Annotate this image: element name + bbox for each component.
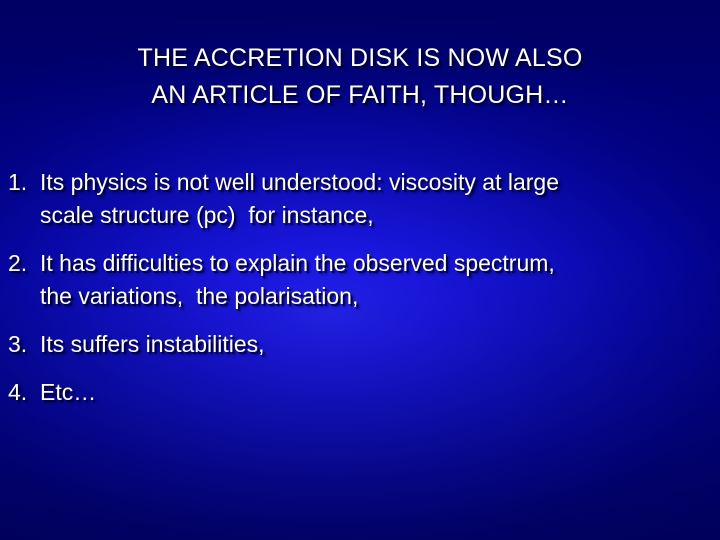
slide-title: THE ACCRETION DISK IS NOW ALSO AN ARTICL… bbox=[0, 40, 720, 114]
list-item-number: 3. bbox=[8, 328, 40, 361]
list-item-line: the variations, the polarisation, bbox=[40, 280, 714, 313]
list-item-number: 1. bbox=[8, 166, 40, 199]
list-item: 4. Etc… bbox=[8, 376, 714, 409]
list-item-line: scale structure (pc) for instance, bbox=[40, 199, 714, 232]
list-item: 2. It has difficulties to explain the ob… bbox=[8, 247, 714, 313]
title-line-1: THE ACCRETION DISK IS NOW ALSO bbox=[0, 40, 720, 77]
list-item-text: It has difficulties to explain the obser… bbox=[40, 247, 714, 313]
list-item-line: Its physics is not well understood: visc… bbox=[40, 166, 714, 199]
list-item-number: 4. bbox=[8, 376, 40, 409]
list-item-number: 2. bbox=[8, 247, 40, 280]
list-item: 3. Its suffers instabilities, bbox=[8, 328, 714, 361]
list-item-text: Etc… bbox=[40, 376, 714, 409]
title-line-2: AN ARTICLE OF FAITH, THOUGH… bbox=[0, 77, 720, 114]
presentation-slide: THE ACCRETION DISK IS NOW ALSO AN ARTICL… bbox=[0, 0, 720, 540]
list-item-line: Etc… bbox=[40, 376, 714, 409]
list-item-line: It has difficulties to explain the obser… bbox=[40, 247, 714, 280]
list-item-text: Its suffers instabilities, bbox=[40, 328, 714, 361]
slide-content: THE ACCRETION DISK IS NOW ALSO AN ARTICL… bbox=[0, 0, 720, 540]
list-item-text: Its physics is not well understood: visc… bbox=[40, 166, 714, 232]
numbered-list: 1. Its physics is not well understood: v… bbox=[8, 166, 714, 424]
list-item-line: Its suffers instabilities, bbox=[40, 328, 714, 361]
list-item: 1. Its physics is not well understood: v… bbox=[8, 166, 714, 232]
